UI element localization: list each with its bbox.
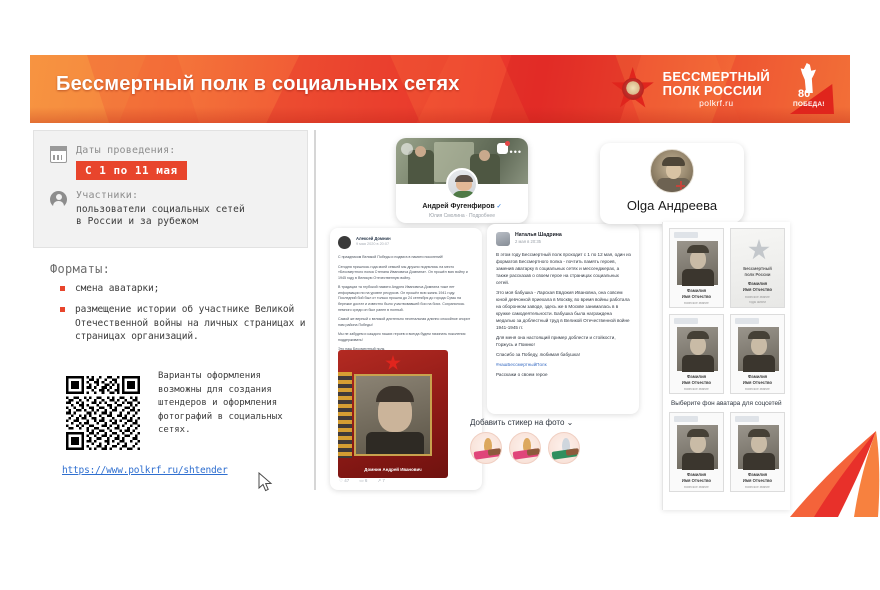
- frame-name-line-2: Имя Отчество: [731, 478, 784, 483]
- sticker-picker: Добавить стикер на фото ⌄: [470, 418, 650, 464]
- frame-option[interactable]: Фамилия Имя Отчество воинское звание: [730, 412, 785, 492]
- brand-logo-text: БЕССМЕРТНЫЙ ПОЛК РОССИИ polkrf.ru: [663, 70, 770, 107]
- victory-80-icon: 80 ПОБЕДА!: [784, 64, 836, 114]
- frame-photo: [677, 241, 718, 285]
- anniversary-word: ПОБЕДА!: [793, 101, 825, 108]
- shtender-link[interactable]: https://www.polkrf.ru/shtender: [62, 465, 228, 476]
- slide-root: Бессмертный полк в социальных сетях БЕСС…: [0, 0, 880, 590]
- brand-logo: БЕССМЕРТНЫЙ ПОЛК РОССИИ polkrf.ru 80 ПОБ…: [611, 61, 836, 117]
- frame-picker-cta: Выберите фон аватара для соцсетей: [671, 400, 782, 407]
- dates-badge: С 1 по 11 мая: [76, 161, 187, 180]
- avatar[interactable]: [446, 168, 478, 200]
- post-paragraph: Это моя бабушка - Ларская Евдокия Иванов…: [496, 290, 632, 332]
- post-hashtag[interactable]: #нашБессмертныйПолк: [496, 362, 632, 369]
- frame-option[interactable]: Фамилия Имя Отчество воинское звание: [669, 314, 724, 394]
- frame-name-line-1: Фамилия: [670, 288, 723, 293]
- more-dots-icon[interactable]: •••: [510, 147, 522, 157]
- profile-name: Olga Андреева: [600, 198, 744, 213]
- post-timestamp: 2 мая в 20:35: [515, 239, 562, 244]
- dates-label: Даты проведения:: [76, 145, 187, 156]
- frame-option[interactable]: Бессмертный полк России Фамилия Имя Отче…: [730, 228, 785, 308]
- notification-badge: [497, 143, 508, 154]
- avatar[interactable]: [338, 236, 351, 249]
- frame-brand-line-1: Бессмертный: [731, 266, 784, 271]
- brand-url: polkrf.ru: [663, 99, 770, 108]
- vk-post-card[interactable]: Алексей Домнин 9 мая 2020 в 20:07 С праз…: [330, 228, 482, 490]
- frame-name-line-1: Фамилия: [670, 374, 723, 379]
- brand-mark: [735, 416, 759, 422]
- profile-name: Андрей Фугенфиров ✓: [396, 203, 528, 210]
- sticker-picker-title[interactable]: Добавить стикер на фото ⌄: [470, 418, 650, 427]
- qr-code: [62, 372, 144, 454]
- page-title: Бессмертный полк в социальных сетях: [56, 73, 460, 96]
- frame-grid-bottom: Фамилия Имя Отчество воинское звание Фам…: [669, 412, 785, 492]
- post-paragraph: Мы не забудем и каждого наших героев и в…: [338, 332, 474, 343]
- frame-option[interactable]: Фамилия Имя Отчество воинское звание: [730, 314, 785, 394]
- participants-line-2: в России и за рубежом: [76, 216, 245, 227]
- post-paragraph: Сегодня пришлось года моей семьей мы дру…: [338, 265, 474, 282]
- avatar[interactable]: [496, 232, 510, 246]
- frame-name-line-1: Фамилия: [670, 472, 723, 477]
- post-author: Алексей Домнин: [356, 236, 391, 241]
- brand-mark: [674, 232, 698, 238]
- participants-line-1: пользователи социальных сетей: [76, 204, 245, 215]
- mouse-cursor-icon: [258, 472, 274, 492]
- post-cta: Расскажи о своем герое: [496, 372, 632, 379]
- red-cross-icon: [676, 181, 685, 190]
- user-icon: [50, 191, 67, 208]
- back-arrow-icon[interactable]: [401, 143, 413, 155]
- chevron-down-icon[interactable]: ⌄: [567, 418, 574, 427]
- frame-meta: воинское звание: [670, 301, 723, 305]
- avatar-frame-picker: Фамилия Имя Отчество воинское звание Бес…: [662, 222, 790, 510]
- frame-name-line-2: Имя Отчество: [670, 478, 723, 483]
- verified-icon: ✓: [497, 204, 502, 210]
- post-header: Наталья Шадрина 2 мая в 20:35: [496, 232, 562, 246]
- cover-figure-head: [479, 150, 490, 161]
- brand-mark: [674, 318, 698, 324]
- sticker-bird-pink-ribbon[interactable]: [470, 432, 502, 464]
- sticker-green-star[interactable]: [548, 432, 580, 464]
- brand-line-1: БЕССМЕРТНЫЙ: [663, 70, 770, 83]
- dates-row: Даты проведения: С 1 по 11 мая: [50, 145, 187, 180]
- post-timestamp: 9 мая 2020 в 20:07: [356, 242, 391, 246]
- post-paragraph: В этом году Бессмертный полк проходит с …: [496, 252, 632, 287]
- list-item: размещение истории об участнике Великой …: [60, 303, 308, 344]
- share-count[interactable]: ↗ 7: [377, 478, 385, 484]
- post-paragraph: Спасибо за Победу, любимая бабушка!: [496, 352, 632, 359]
- qr-code-image: [66, 376, 140, 450]
- order-star-icon: [748, 239, 770, 261]
- frame-name-line-1: Фамилия: [731, 281, 784, 286]
- frame-name-line-2: Имя Отчество: [731, 287, 784, 292]
- frame-name-line-2: Имя Отчество: [731, 380, 784, 385]
- post-body: С праздником Великой Победы и подвига в …: [338, 255, 474, 357]
- post-actions: ♡ 47 ▭ 6 ↗ 7: [339, 478, 385, 484]
- post-author: Наталья Шадрина: [515, 232, 562, 238]
- frame-grid-top: Фамилия Имя Отчество воинское звание Бес…: [669, 228, 785, 394]
- calendar-icon: [50, 146, 67, 163]
- frame-meta: воинское звание: [731, 387, 784, 391]
- frame-name-line-2: Имя Отчество: [670, 294, 723, 299]
- format-text: смена аватарки;: [75, 282, 159, 296]
- anniversary-number: 80: [798, 88, 810, 100]
- frame-photo: [677, 425, 718, 469]
- red-star-icon: [611, 67, 655, 111]
- flame-decoration: [788, 425, 880, 535]
- fb-post-card[interactable]: Наталья Шадрина 2 мая в 20:35 В этом год…: [487, 224, 639, 414]
- info-card: Даты проведения: С 1 по 11 мая Участники…: [33, 130, 308, 248]
- participants-row: Участники: пользователи социальных сетей…: [50, 190, 245, 227]
- list-item: смена аватарки;: [60, 282, 308, 296]
- frame-meta-1: воинское звание: [731, 295, 784, 299]
- post-paragraph: Самой же верный с великой длительно неот…: [338, 317, 474, 328]
- qr-note: Варианты оформления возможны для создани…: [158, 370, 298, 438]
- comment-count[interactable]: ▭ 6: [359, 478, 367, 484]
- brand-mark: [674, 416, 698, 422]
- brand-mark: [735, 318, 759, 324]
- frame-name-line-1: Фамилия: [731, 472, 784, 477]
- frame-meta: воинское звание: [731, 485, 784, 489]
- header-banner: Бессмертный полк в социальных сетях БЕСС…: [30, 55, 850, 123]
- formats-title: Форматы:: [50, 262, 110, 276]
- format-text: размещение истории об участнике Великой …: [75, 303, 308, 344]
- post-paragraph: С праздником Великой Победы и подвига в …: [338, 255, 474, 261]
- frame-photo: [738, 425, 779, 469]
- frame-name-line-2: Имя Отчество: [670, 380, 723, 385]
- memorial-photo[interactable]: Домнин Андрей Иванович: [338, 350, 448, 478]
- cover-figure-head: [415, 146, 426, 157]
- frame-meta-2: годы жизни: [731, 300, 784, 304]
- post-body: В этом году Бессмертный полк проходит с …: [496, 252, 632, 382]
- vertical-divider: [314, 130, 316, 490]
- frame-option[interactable]: Фамилия Имя Отчество воинское звание: [669, 228, 724, 308]
- post-paragraph: В традиции та глубокой памяти Андрея Ива…: [338, 285, 474, 313]
- formats-list: смена аватарки; размещение истории об уч…: [60, 282, 308, 351]
- frame-photo: [738, 327, 779, 371]
- st-george-ribbon-icon: [338, 372, 352, 458]
- avatar[interactable]: [650, 149, 694, 193]
- bullet-icon: [60, 286, 65, 291]
- frame-name-line-1: Фамилия: [731, 374, 784, 379]
- vk-profile-card[interactable]: ••• Андрей Фугенфиров ✓ Юлия Смолина · П…: [396, 138, 528, 223]
- post-paragraph: Для меня она настоящий пример доблести и…: [496, 335, 632, 349]
- participants-label: Участники:: [76, 190, 245, 201]
- profile-subtitle: Юлия Смолина · Подробнее: [396, 213, 528, 219]
- frame-brand-line-2: полк России: [731, 272, 784, 277]
- sticker-row: [470, 432, 650, 464]
- like-count[interactable]: ♡ 47: [339, 478, 349, 484]
- frame-meta: воинское звание: [670, 485, 723, 489]
- bullet-icon: [60, 307, 65, 312]
- frame-photo: [677, 327, 718, 371]
- photo-caption: Домнин Андрей Иванович: [338, 467, 448, 472]
- frame-option[interactable]: Фамилия Имя Отчество воинское звание: [669, 412, 724, 492]
- olga-profile-card[interactable]: Olga Андреева: [600, 143, 744, 224]
- red-star-icon: [385, 355, 401, 371]
- sticker-bird-pink-ribbon-2[interactable]: [509, 432, 541, 464]
- post-header: Алексей Домнин 9 мая 2020 в 20:07: [338, 236, 391, 249]
- frame-meta: воинское звание: [670, 387, 723, 391]
- photo-frame: [354, 374, 432, 456]
- brand-line-2: ПОЛК РОССИИ: [663, 84, 770, 97]
